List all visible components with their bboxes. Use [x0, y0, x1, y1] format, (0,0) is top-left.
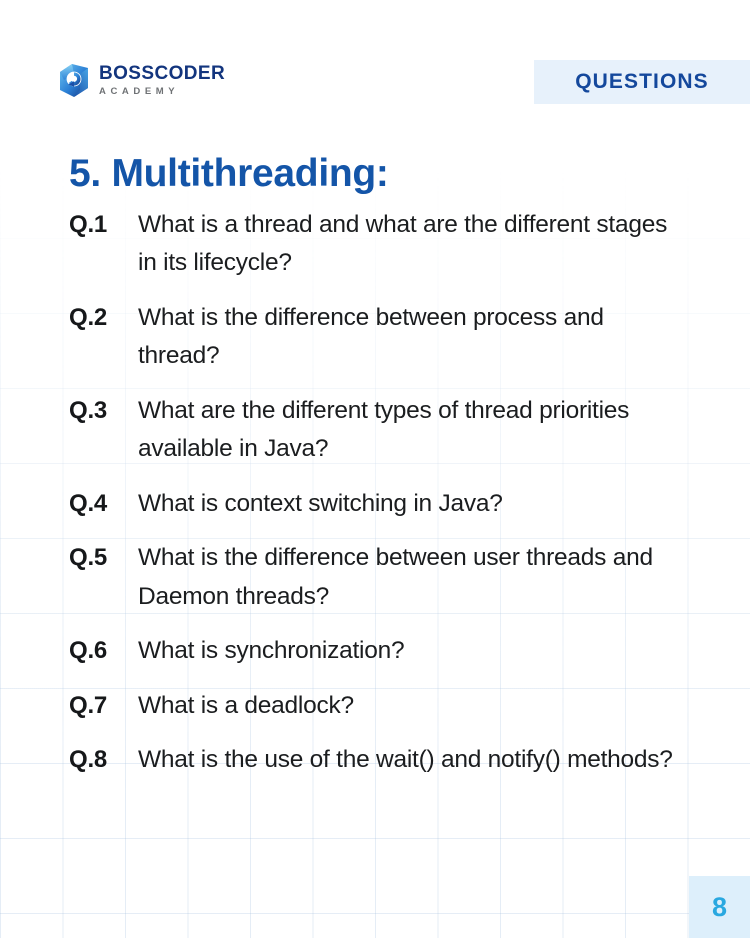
question-text: What is a thread and what are the differ… [138, 206, 673, 283]
question-text: What is a deadlock? [138, 687, 673, 725]
questions-banner: QUESTIONS [534, 60, 750, 104]
question-label: Q.6 [69, 632, 138, 670]
brand-name: BOSSCODER [99, 64, 225, 84]
question-label: Q.3 [69, 392, 138, 430]
question-text: What is the use of the wait() and notify… [138, 741, 673, 779]
question-list: Q.1 What is a thread and what are the di… [69, 206, 709, 779]
question-row: Q.1 What is a thread and what are the di… [69, 206, 709, 283]
question-text: What is the difference between user thre… [138, 539, 673, 616]
question-row: Q.7 What is a deadlock? [69, 687, 709, 725]
slide-content: BOSSCODER ACADEMY QUESTIONS 5. Multithre… [0, 0, 750, 938]
question-label: Q.2 [69, 299, 138, 337]
question-text: What is context switching in Java? [138, 485, 673, 523]
question-label: Q.4 [69, 485, 138, 523]
questions-banner-label: QUESTIONS [575, 70, 709, 94]
brand-wordmark: BOSSCODER ACADEMY [99, 63, 225, 96]
bosscoder-logo-icon [58, 62, 90, 98]
question-label: Q.5 [69, 539, 138, 577]
slide-page: BOSSCODER ACADEMY QUESTIONS 5. Multithre… [0, 0, 750, 938]
question-label: Q.7 [69, 687, 138, 725]
brand-subtitle: ACADEMY [99, 87, 225, 97]
question-text: What is synchronization? [138, 632, 673, 670]
question-row: Q.4 What is context switching in Java? [69, 485, 709, 523]
brand-logo[interactable]: BOSSCODER ACADEMY [58, 62, 225, 98]
question-row: Q.3 What are the different types of thre… [69, 392, 709, 469]
question-row: Q.2 What is the difference between proce… [69, 299, 709, 376]
page-number: 8 [712, 894, 727, 921]
question-label: Q.1 [69, 206, 138, 244]
question-row: Q.8 What is the use of the wait() and no… [69, 741, 709, 779]
question-text: What are the different types of thread p… [138, 392, 673, 469]
page-number-badge: 8 [689, 876, 750, 938]
question-label: Q.8 [69, 741, 138, 779]
page-title: 5. Multithreading: [69, 152, 389, 196]
question-text: What is the difference between process a… [138, 299, 673, 376]
question-row: Q.5 What is the difference between user … [69, 539, 709, 616]
question-row: Q.6 What is synchronization? [69, 632, 709, 670]
